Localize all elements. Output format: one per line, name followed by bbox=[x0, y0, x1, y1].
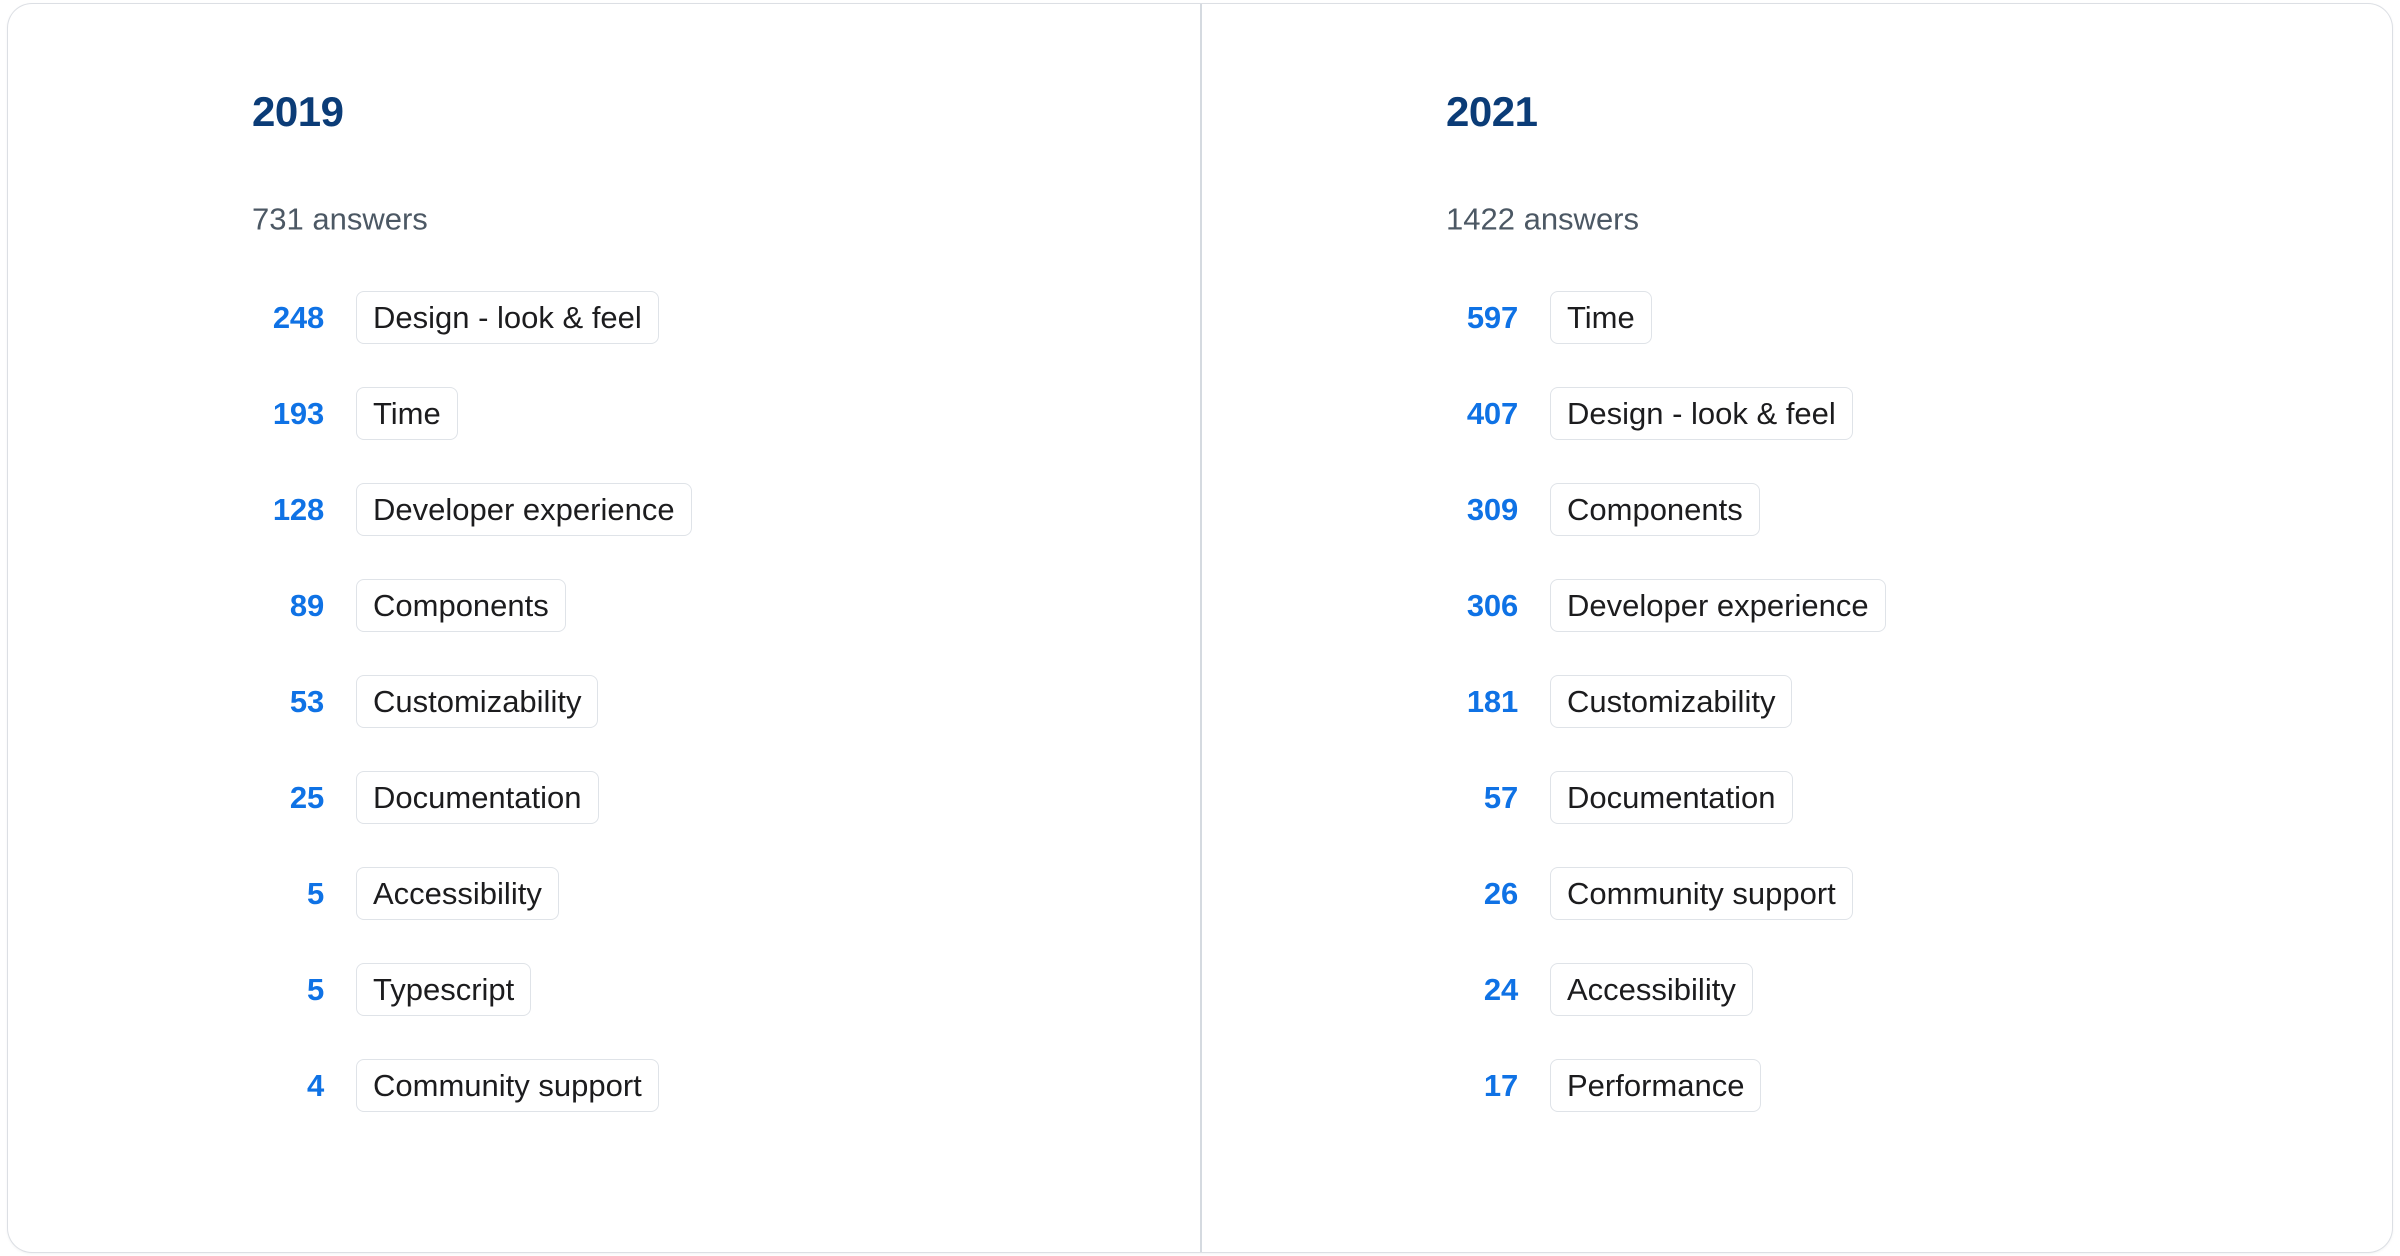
result-row: 407 Design - look & feel bbox=[1446, 365, 2392, 461]
result-label-pill[interactable]: Accessibility bbox=[1550, 963, 1753, 1016]
result-row: 89 Components bbox=[252, 557, 1200, 653]
result-count: 24 bbox=[1446, 974, 1518, 1005]
answers-count-2019: 731 answers bbox=[252, 204, 428, 235]
result-row: 26 Community support bbox=[1446, 845, 2392, 941]
result-label-pill[interactable]: Time bbox=[356, 387, 458, 440]
result-count: 25 bbox=[252, 782, 324, 813]
result-label-pill[interactable]: Documentation bbox=[1550, 771, 1793, 824]
result-label-pill[interactable]: Time bbox=[1550, 291, 1652, 344]
result-count: 17 bbox=[1446, 1070, 1518, 1101]
year-title-2019: 2019 bbox=[252, 91, 343, 133]
result-count: 128 bbox=[252, 494, 324, 525]
result-count: 407 bbox=[1446, 398, 1518, 429]
result-count: 597 bbox=[1446, 302, 1518, 333]
result-count: 309 bbox=[1446, 494, 1518, 525]
result-count: 248 bbox=[252, 302, 324, 333]
answers-count-2021: 1422 answers bbox=[1446, 204, 1639, 235]
result-label-pill[interactable]: Documentation bbox=[356, 771, 599, 824]
result-count: 5 bbox=[252, 878, 324, 909]
result-count: 53 bbox=[252, 686, 324, 717]
result-label-pill[interactable]: Typescript bbox=[356, 963, 531, 1016]
result-label-pill[interactable]: Developer experience bbox=[356, 483, 692, 536]
result-row: 597 Time bbox=[1446, 269, 2392, 365]
result-count: 4 bbox=[252, 1070, 324, 1101]
result-row: 193 Time bbox=[252, 365, 1200, 461]
year-column-2021: 2021 1422 answers 597 Time 407 Design - … bbox=[1200, 4, 2392, 1252]
result-label-pill[interactable]: Performance bbox=[1550, 1059, 1761, 1112]
result-count: 89 bbox=[252, 590, 324, 621]
result-label-pill[interactable]: Components bbox=[356, 579, 566, 632]
column-content-2019: 2019 731 answers 248 Design - look & fee… bbox=[252, 4, 1200, 1252]
result-label-pill[interactable]: Developer experience bbox=[1550, 579, 1886, 632]
result-row: 5 Typescript bbox=[252, 941, 1200, 1037]
results-card: 2019 731 answers 248 Design - look & fee… bbox=[8, 4, 2392, 1252]
result-row: 25 Documentation bbox=[252, 749, 1200, 845]
result-row: 4 Community support bbox=[252, 1037, 1200, 1133]
results-list-2021: 597 Time 407 Design - look & feel 309 Co… bbox=[1446, 269, 2392, 1133]
result-label-pill[interactable]: Customizability bbox=[1550, 675, 1792, 728]
result-label-pill[interactable]: Community support bbox=[1550, 867, 1853, 920]
result-row: 128 Developer experience bbox=[252, 461, 1200, 557]
result-label-pill[interactable]: Accessibility bbox=[356, 867, 559, 920]
result-row: 306 Developer experience bbox=[1446, 557, 2392, 653]
result-label-pill[interactable]: Customizability bbox=[356, 675, 598, 728]
columns-container: 2019 731 answers 248 Design - look & fee… bbox=[8, 4, 2392, 1252]
result-label-pill[interactable]: Design - look & feel bbox=[1550, 387, 1853, 440]
result-count: 181 bbox=[1446, 686, 1518, 717]
result-count: 26 bbox=[1446, 878, 1518, 909]
result-count: 193 bbox=[252, 398, 324, 429]
result-row: 181 Customizability bbox=[1446, 653, 2392, 749]
result-row: 17 Performance bbox=[1446, 1037, 2392, 1133]
result-row: 53 Customizability bbox=[252, 653, 1200, 749]
result-count: 306 bbox=[1446, 590, 1518, 621]
result-row: 309 Components bbox=[1446, 461, 2392, 557]
results-list-2019: 248 Design - look & feel 193 Time 128 De… bbox=[252, 269, 1200, 1133]
result-row: 57 Documentation bbox=[1446, 749, 2392, 845]
year-title-2021: 2021 bbox=[1446, 91, 1537, 133]
result-label-pill[interactable]: Community support bbox=[356, 1059, 659, 1112]
result-row: 24 Accessibility bbox=[1446, 941, 2392, 1037]
year-column-2019: 2019 731 answers 248 Design - look & fee… bbox=[8, 4, 1200, 1252]
column-content-2021: 2021 1422 answers 597 Time 407 Design - … bbox=[1446, 4, 2392, 1252]
result-count: 5 bbox=[252, 974, 324, 1005]
result-row: 5 Accessibility bbox=[252, 845, 1200, 941]
result-label-pill[interactable]: Components bbox=[1550, 483, 1760, 536]
result-label-pill[interactable]: Design - look & feel bbox=[356, 291, 659, 344]
result-row: 248 Design - look & feel bbox=[252, 269, 1200, 365]
result-count: 57 bbox=[1446, 782, 1518, 813]
